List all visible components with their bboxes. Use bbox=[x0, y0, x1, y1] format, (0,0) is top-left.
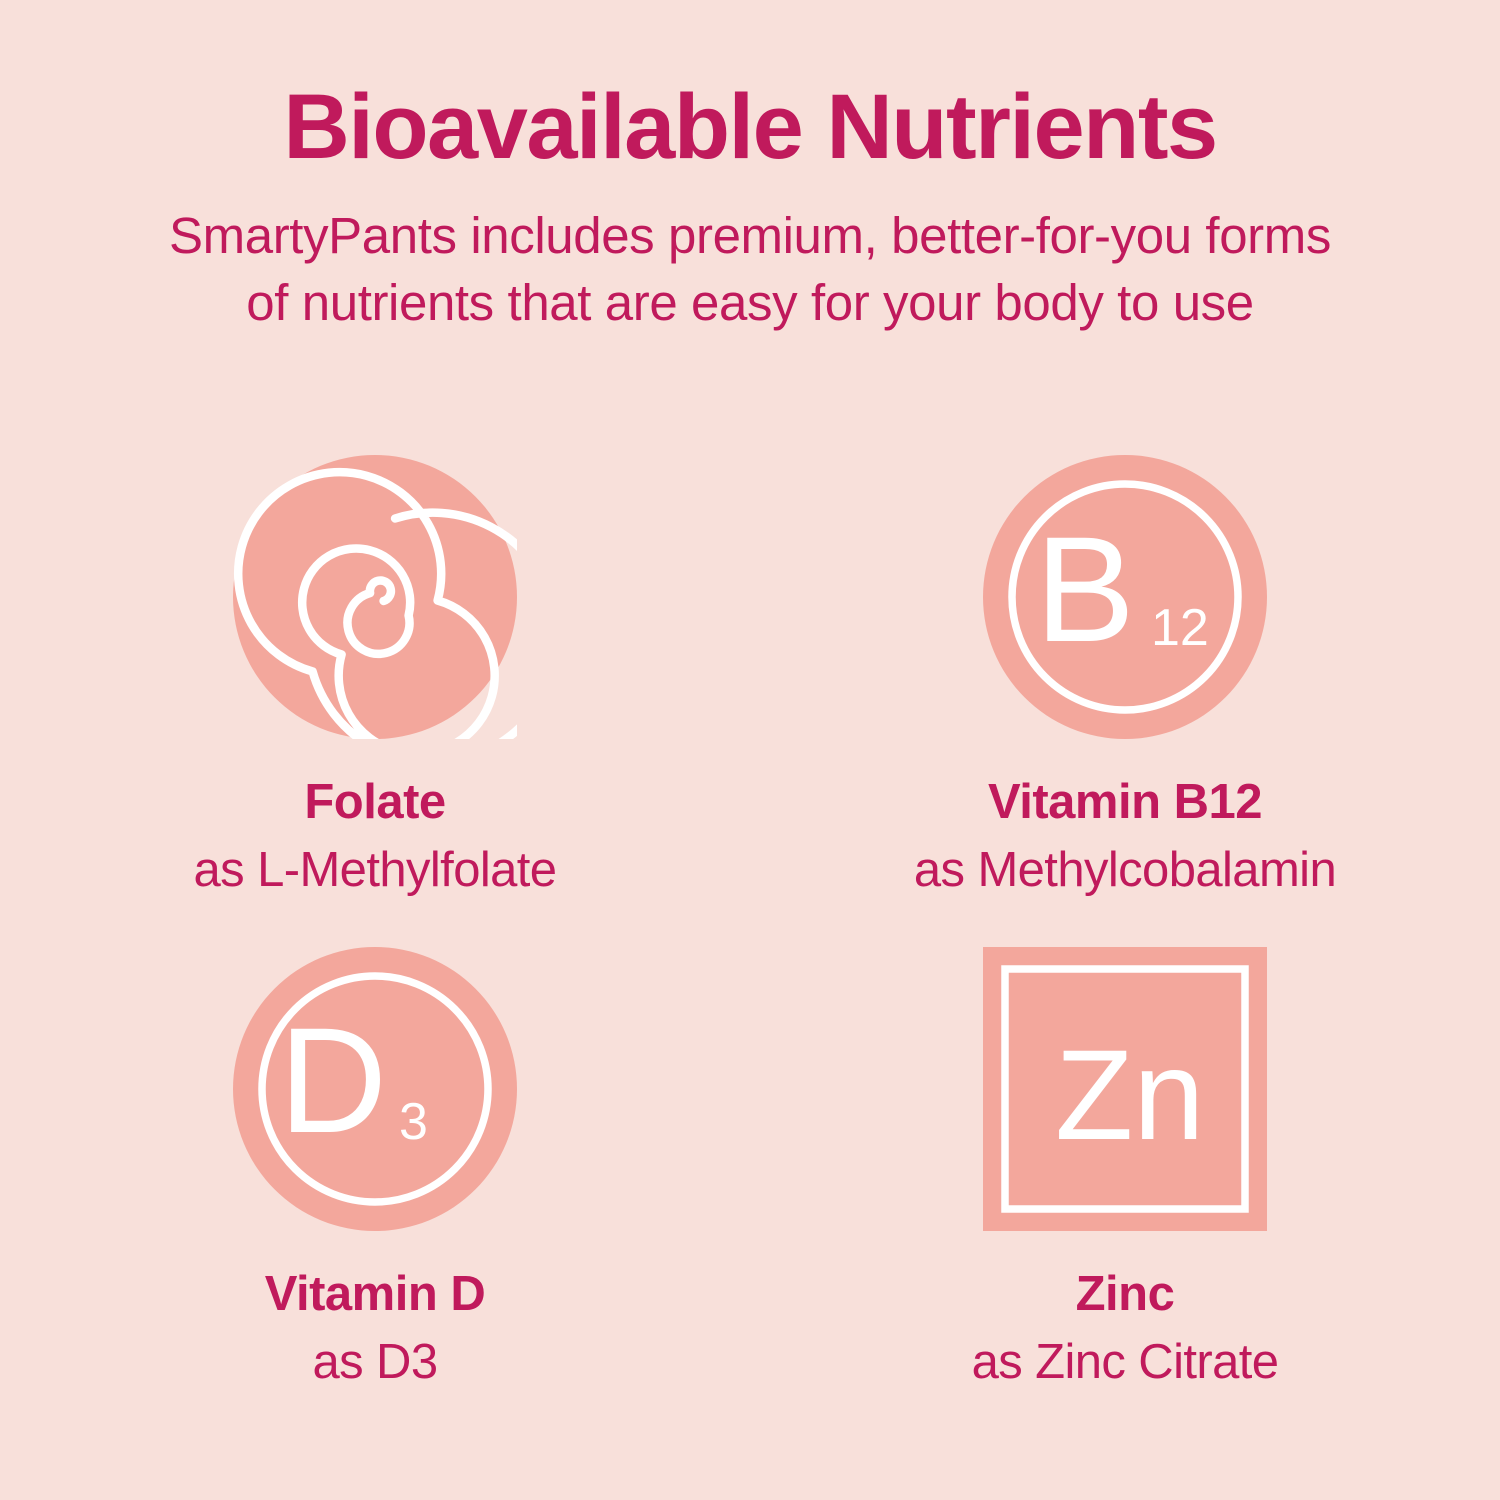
nutrient-item-vitamin-b12: B 12 Vitamin B12 as Methylcobalamin bbox=[750, 455, 1500, 947]
page-title: Bioavailable Nutrients bbox=[0, 78, 1500, 177]
element-subscript: 12 bbox=[1151, 599, 1209, 657]
element-symbol: D bbox=[279, 996, 387, 1164]
subtitle-line-1: SmartyPants includes premium, better-for… bbox=[40, 203, 1460, 269]
vitamin-d3-icon: D 3 bbox=[233, 947, 517, 1231]
page-subtitle: SmartyPants includes premium, better-for… bbox=[40, 203, 1460, 336]
nutrient-item-folate: Folate as L-Methylfolate bbox=[0, 455, 750, 947]
nutrient-form: as Methylcobalamin bbox=[914, 843, 1336, 898]
nutrient-name: Zinc bbox=[972, 1267, 1279, 1322]
nutrient-item-vitamin-d: D 3 Vitamin D as D3 bbox=[0, 947, 750, 1439]
element-symbol: B bbox=[1035, 505, 1135, 673]
vitamin-b12-icon: B 12 bbox=[983, 455, 1267, 739]
zinc-icon: Zn bbox=[983, 947, 1267, 1231]
subtitle-line-2: of nutrients that are easy for your body… bbox=[40, 270, 1460, 336]
vitamin-b12-labels: Vitamin B12 as Methylcobalamin bbox=[914, 775, 1336, 898]
nutrient-grid: Folate as L-Methylfolate B 12 Vitamin B1… bbox=[0, 455, 1500, 1439]
element-subscript: 3 bbox=[399, 1093, 428, 1151]
header: Bioavailable Nutrients SmartyPants inclu… bbox=[0, 78, 1500, 336]
nutrient-form: as Zinc Citrate bbox=[972, 1335, 1279, 1390]
nutrient-name: Folate bbox=[194, 775, 557, 830]
nutrient-name: Vitamin D bbox=[265, 1267, 486, 1322]
zinc-labels: Zinc as Zinc Citrate bbox=[972, 1267, 1279, 1390]
nutrient-item-zinc: Zn Zinc as Zinc Citrate bbox=[750, 947, 1500, 1439]
vitamin-d-labels: Vitamin D as D3 bbox=[265, 1267, 486, 1390]
zinc-icon-wrap: Zn bbox=[983, 947, 1267, 1231]
element-symbol: Zn bbox=[1055, 1024, 1204, 1167]
nutrient-form: as D3 bbox=[265, 1335, 486, 1390]
nutrient-form: as L-Methylfolate bbox=[194, 843, 557, 898]
vitamin-b12-icon-wrap: B 12 bbox=[983, 455, 1267, 739]
vitamin-d-icon-wrap: D 3 bbox=[233, 947, 517, 1231]
nutrient-name: Vitamin B12 bbox=[914, 775, 1336, 830]
infographic-page: Bioavailable Nutrients SmartyPants inclu… bbox=[0, 0, 1500, 1500]
folate-labels: Folate as L-Methylfolate bbox=[194, 775, 557, 898]
spiral-icon bbox=[233, 455, 517, 739]
folate-icon-wrap bbox=[233, 455, 517, 739]
